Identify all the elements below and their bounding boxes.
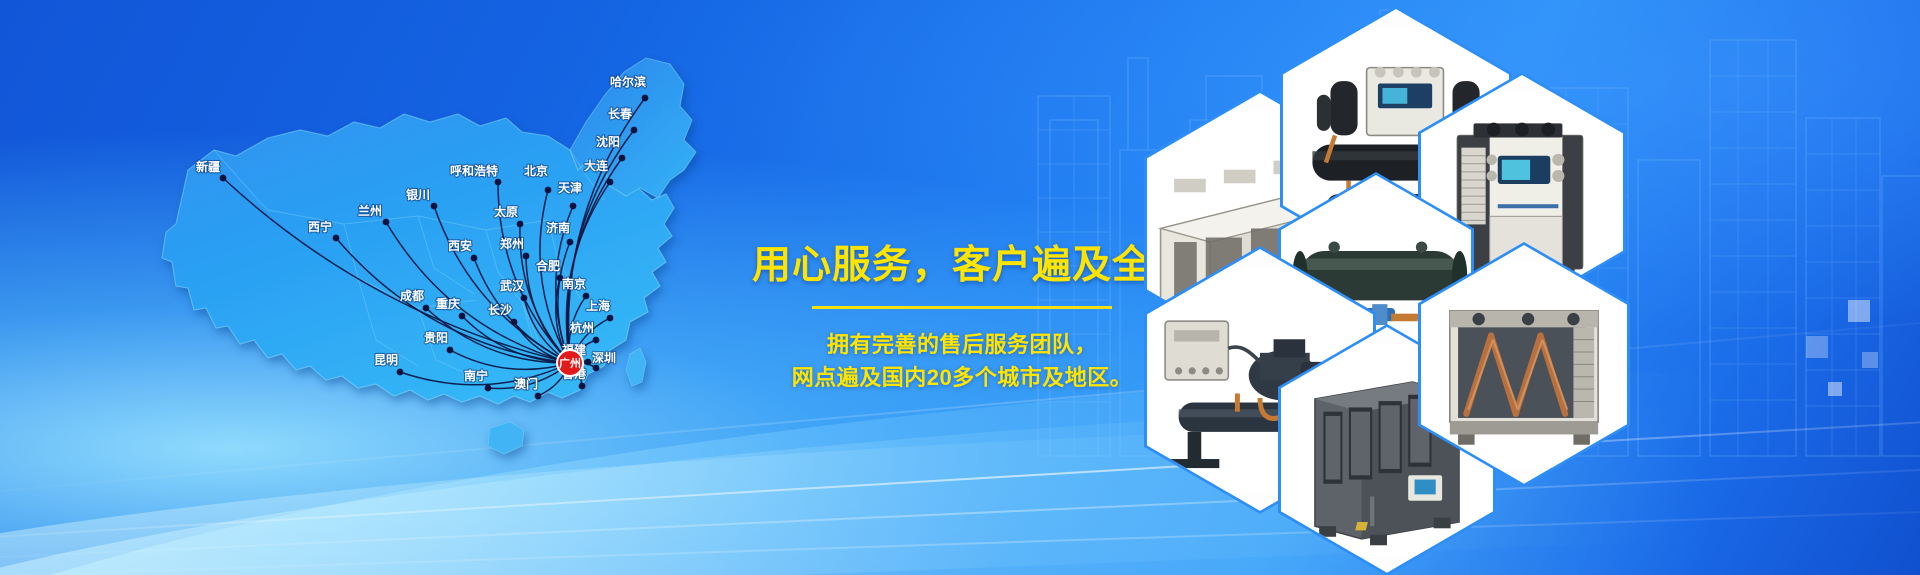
city-dot-25[interactable]	[447, 347, 454, 354]
banner-copy: 用心服务，客户遍及全国 拥有完善的售后服务团队， 网点遍及国内20多个城市及地区…	[752, 246, 1172, 395]
city-label-10: 沈阳	[596, 134, 620, 149]
product-hexagon-cluster	[1150, 0, 1920, 575]
city-label-11: 大连	[584, 158, 609, 173]
hub-label: 广州	[559, 356, 581, 370]
city-dot-27[interactable]	[485, 385, 492, 392]
city-label-1: 新疆	[196, 159, 220, 174]
city-label-7: 天津	[558, 180, 582, 195]
city-dot-22[interactable]	[511, 319, 518, 326]
subtitle-line-2: 网点遍及国内20多个城市及地区。	[752, 361, 1172, 394]
city-label-16: 合肥	[536, 258, 560, 273]
city-label-5: 呼和浩特	[450, 163, 498, 178]
city-dot-21[interactable]	[521, 295, 528, 302]
city-dot-15[interactable]	[567, 239, 574, 246]
city-dot-10[interactable]	[619, 155, 626, 162]
city-dot-13[interactable]	[471, 255, 478, 262]
city-dot-8[interactable]	[642, 95, 649, 102]
city-dot-3[interactable]	[383, 219, 390, 226]
city-label-9: 长春	[608, 106, 633, 121]
city-label-2: 西宁	[308, 219, 332, 234]
city-dot-20[interactable]	[585, 359, 592, 366]
city-label-28: 澳门	[514, 376, 538, 391]
headline-divider	[812, 306, 1112, 309]
subtitle: 拥有完善的售后服务团队， 网点遍及国内20多个城市及地区。	[752, 328, 1172, 395]
city-label-12: 太原	[494, 204, 518, 219]
city-label-19: 杭州	[570, 320, 594, 335]
city-label-23: 成都	[400, 288, 424, 303]
headline: 用心服务，客户遍及全国	[752, 246, 1172, 285]
city-dot-11[interactable]	[607, 179, 614, 186]
service-network-banner: 新疆西宁兰州银川呼和浩特北京天津哈尔滨长春沈阳大连太原西安郑州济南合肥南京上海杭…	[0, 0, 1920, 575]
taiwan-island	[626, 348, 646, 386]
city-label-6: 北京	[524, 163, 548, 178]
city-label-26: 昆明	[374, 353, 398, 367]
city-dot-24[interactable]	[459, 313, 466, 320]
city-dot-30[interactable]	[593, 365, 600, 372]
city-label-22: 长沙	[488, 302, 512, 317]
city-dot-12[interactable]	[517, 221, 524, 228]
city-dot-29[interactable]	[579, 383, 586, 390]
city-dot-28[interactable]	[535, 393, 542, 400]
city-dot-19[interactable]	[593, 337, 600, 344]
city-dot-2[interactable]	[333, 235, 340, 242]
city-label-8: 哈尔滨	[610, 74, 646, 89]
city-dot-9[interactable]	[631, 127, 638, 134]
city-dot-26[interactable]	[397, 369, 404, 376]
city-dot-14[interactable]	[523, 253, 530, 260]
hainan-island	[488, 422, 524, 454]
city-label-13: 西安	[448, 238, 472, 253]
city-label-14: 郑州	[500, 236, 524, 251]
city-label-27: 南宁	[464, 368, 488, 383]
city-dot-7[interactable]	[570, 203, 577, 210]
city-dot-1[interactable]	[220, 175, 227, 182]
city-label-24: 重庆	[436, 296, 460, 311]
city-label-15: 济南	[546, 220, 570, 235]
city-label-25: 贵阳	[424, 330, 448, 345]
city-label-4: 银川	[406, 187, 430, 202]
subtitle-line-1: 拥有完善的售后服务团队，	[752, 328, 1172, 361]
hub-marker-guangzhou: 广州	[557, 350, 583, 376]
city-label-21: 武汉	[500, 278, 525, 293]
china-map: 新疆西宁兰州银川呼和浩特北京天津哈尔滨长春沈阳大连太原西安郑州济南合肥南京上海杭…	[118, 10, 818, 480]
city-label-17: 南京	[562, 276, 586, 291]
city-dot-23[interactable]	[423, 305, 430, 312]
city-dot-4[interactable]	[431, 203, 438, 210]
city-dot-18[interactable]	[607, 315, 614, 322]
city-label-3: 兰州	[358, 203, 382, 218]
city-dot-6[interactable]	[545, 187, 552, 194]
city-label-30: 深圳	[592, 350, 616, 365]
city-dot-5[interactable]	[495, 179, 502, 186]
city-label-18: 上海	[586, 298, 610, 313]
